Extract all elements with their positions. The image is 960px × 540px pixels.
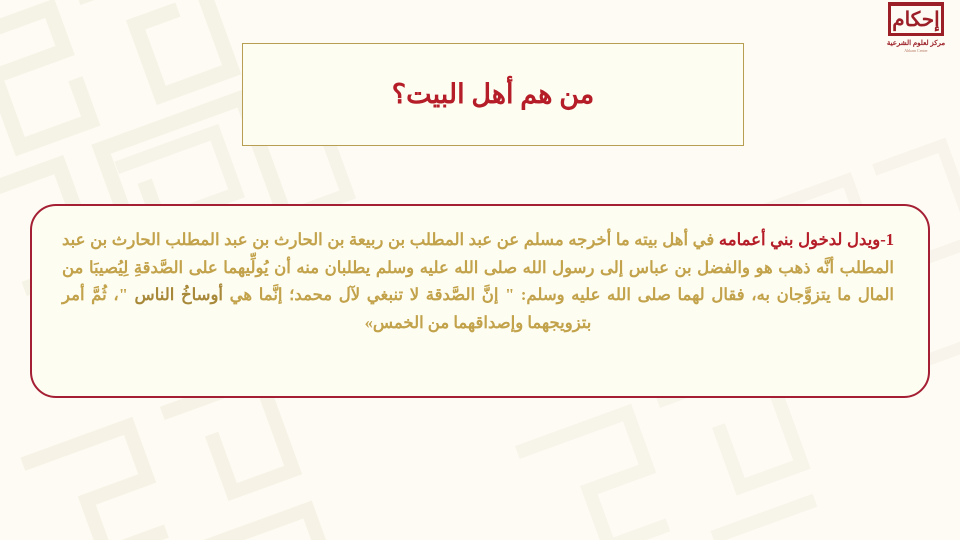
title-box: من هم أهل البيت؟ (242, 43, 744, 146)
slide-canvas: إحكام مركز لعلوم الشرعية Ahkam Center من… (0, 0, 960, 540)
content-paragraph: 1-ويدل لدخول بني أعمامه في أهل بيته ما أ… (62, 226, 894, 336)
ihkam-logo: إحكام مركز لعلوم الشرعية Ahkam Center (880, 2, 952, 53)
content-segment-2: أوساخُ الناس (135, 285, 223, 304)
logo-subtitle: مركز لعلوم الشرعية (880, 40, 952, 47)
content-box: 1-ويدل لدخول بني أعمامه في أهل بيته ما أ… (30, 204, 930, 398)
logo-wordmark: إحكام (891, 6, 941, 33)
content-segment-0: 1-ويدل لدخول بني أعمامه (714, 230, 894, 249)
logo-mark-icon: إحكام (888, 2, 944, 36)
page-title: من هم أهل البيت؟ (392, 79, 595, 110)
logo-subtitle-latin: Ahkam Center (880, 49, 952, 53)
